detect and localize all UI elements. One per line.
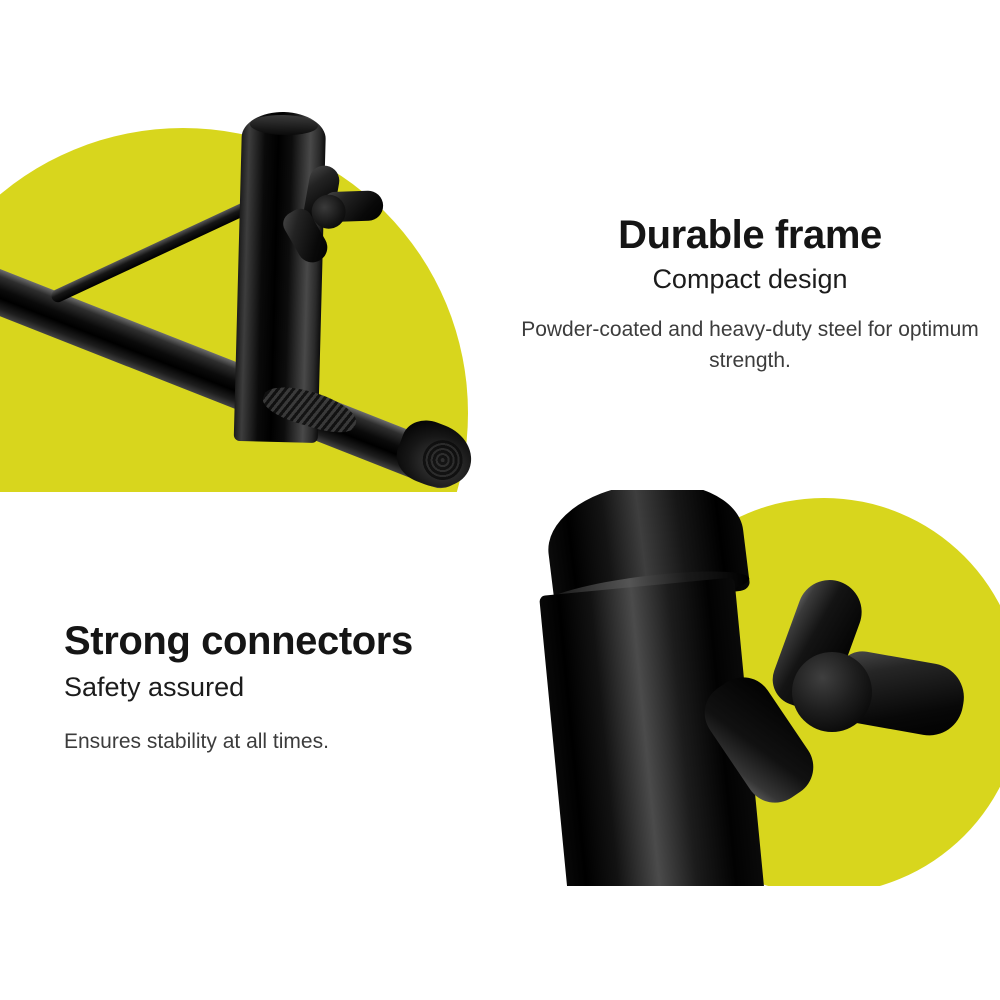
frame-headline: Durable frame <box>618 214 882 256</box>
connectors-headline: Strong connectors <box>64 620 500 662</box>
product-feature-collage: Durable frame Compact design Powder-coat… <box>0 0 1000 1000</box>
connectors-subhead: Safety assured <box>64 670 500 705</box>
connectors-text-panel: Strong connectors Safety assured Ensures… <box>0 500 500 1000</box>
connectors-body-text: Ensures stability at all times. <box>64 727 500 757</box>
frame-body-text: Powder-coated and heavy-duty steel for o… <box>500 315 1000 376</box>
tri-knob-clamp-icon <box>278 158 391 271</box>
connectors-photo-panel <box>500 490 1000 886</box>
frame-text-panel: Durable frame Compact design Powder-coat… <box>500 0 1000 470</box>
tri-knob-clamp-icon <box>730 582 960 812</box>
frame-subhead: Compact design <box>652 262 847 297</box>
knob-center-boss <box>792 652 872 732</box>
frame-photo-panel <box>0 0 500 492</box>
